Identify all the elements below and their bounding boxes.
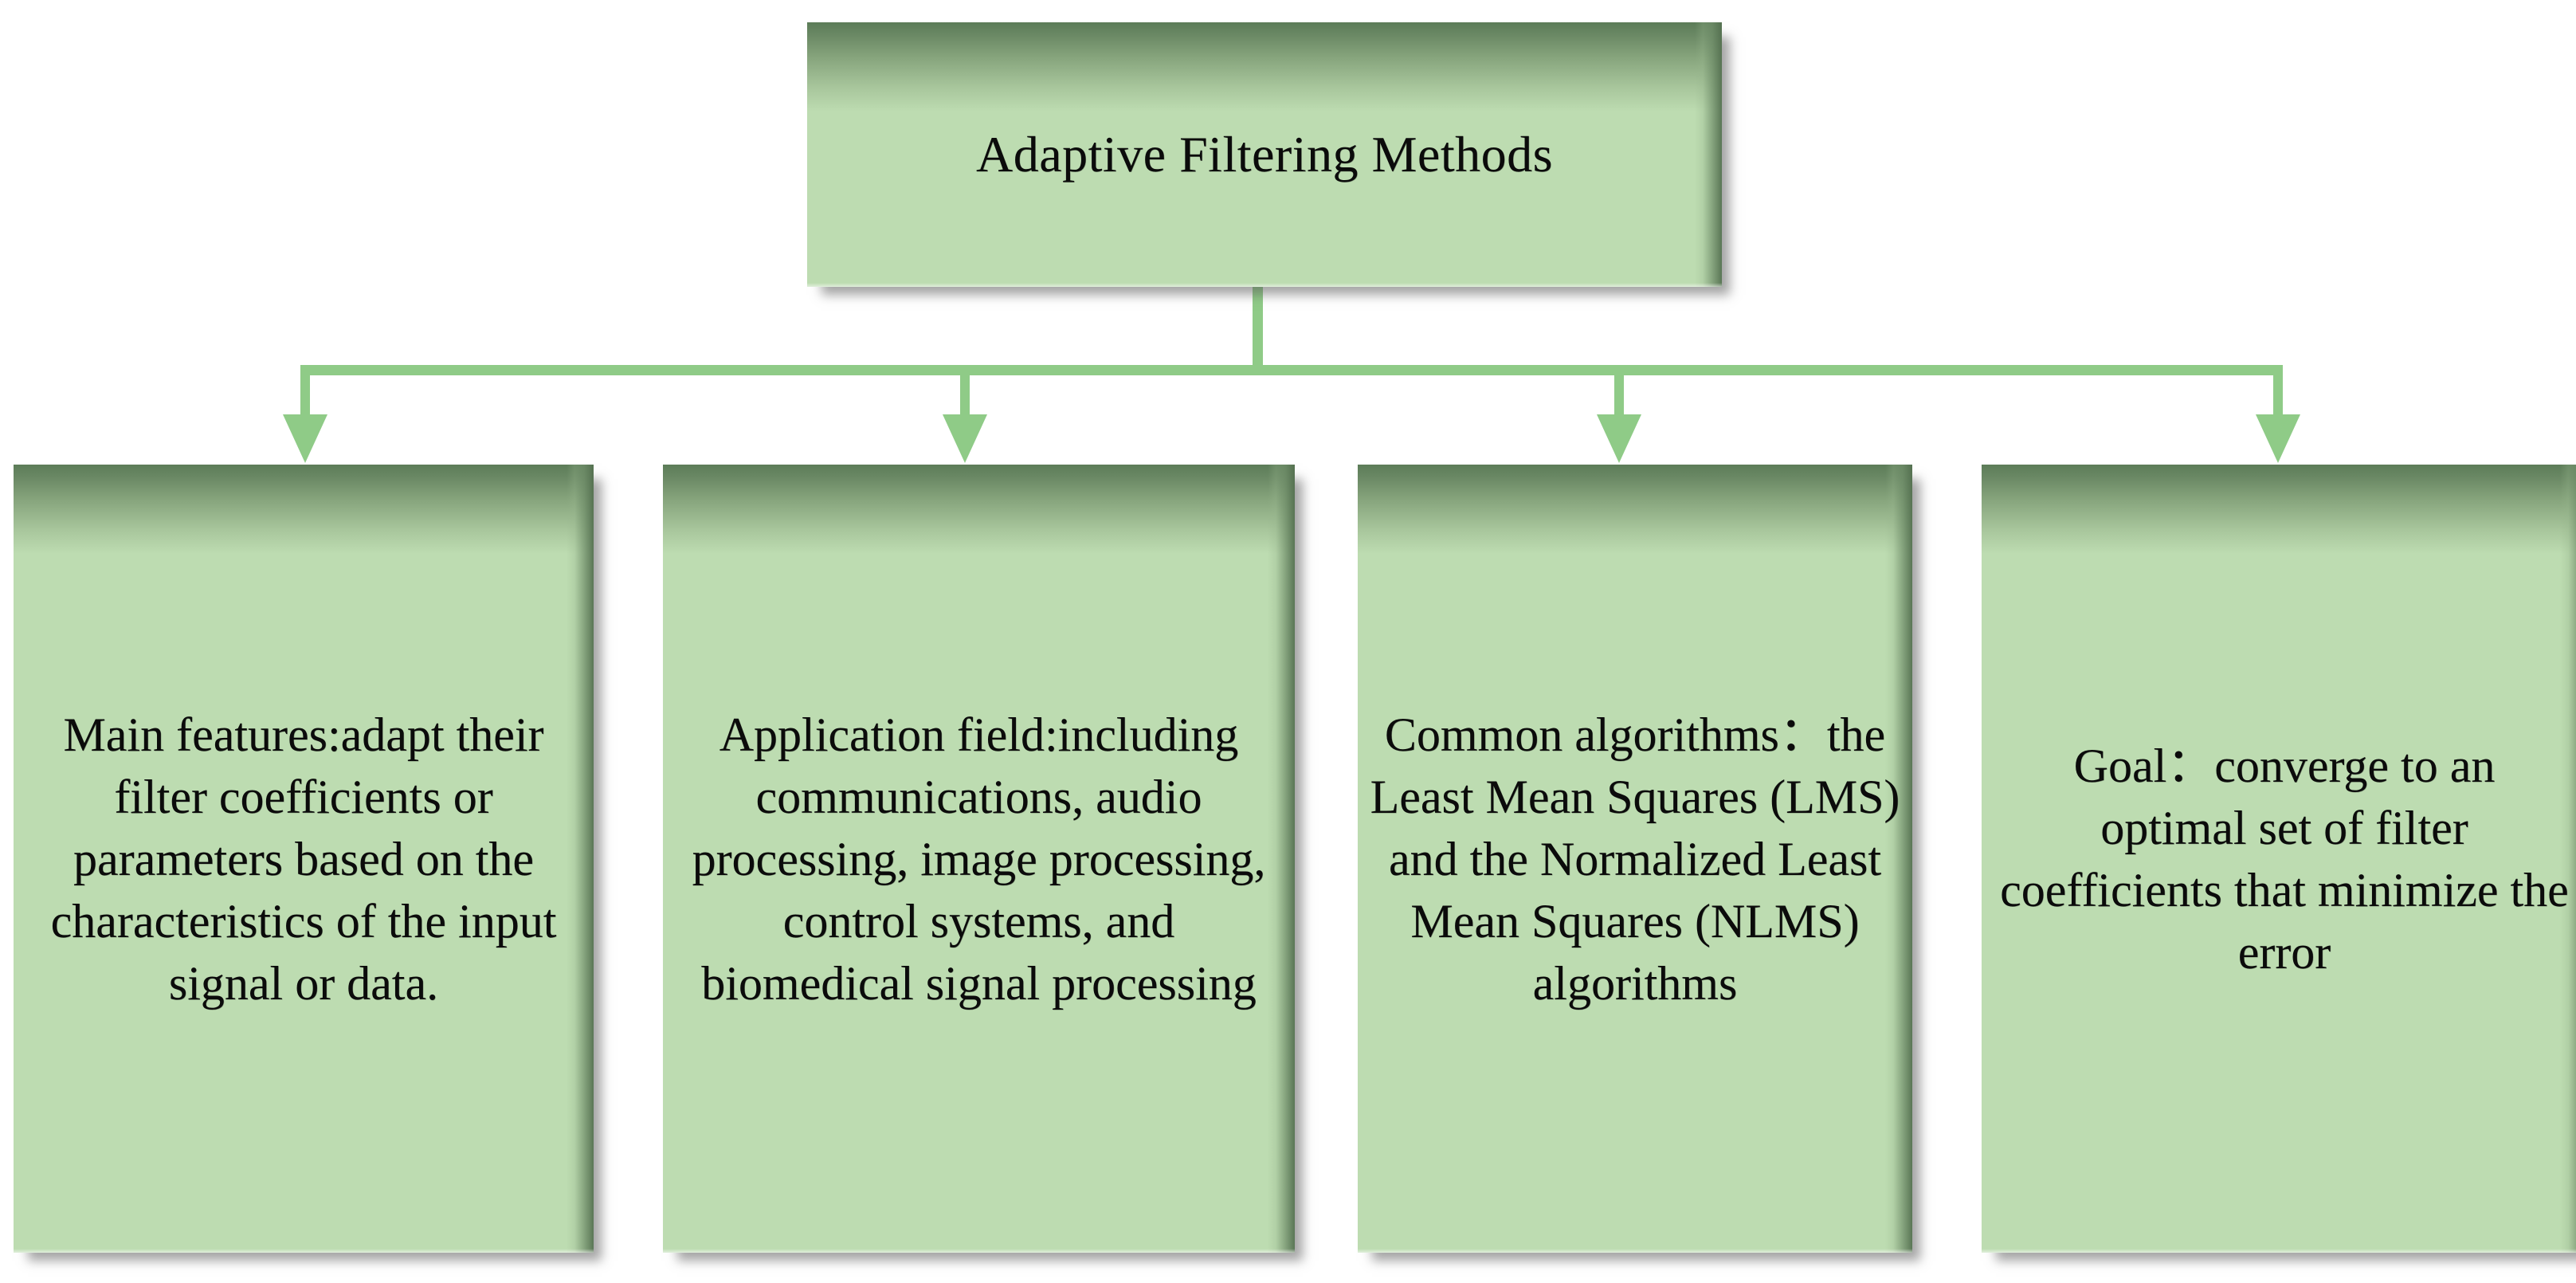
node-goal[interactable]: Goal：converge to an optimal set of filte…	[1982, 465, 2576, 1253]
edge-root-child-1	[943, 365, 987, 463]
arrowhead-icon-0	[283, 414, 327, 463]
node-common-algorithms-label: Common algorithms：the Least Mean Squares…	[1358, 704, 1912, 1014]
node-main-features[interactable]: Main features:adapt their filter coeffic…	[14, 465, 594, 1253]
arrowhead-icon-2	[1597, 414, 1641, 463]
connector-root-stem	[1253, 285, 1263, 373]
flowchart-diagram: Adaptive Filtering Methods Main features…	[0, 0, 2576, 1283]
node-root-label: Adaptive Filtering Methods	[962, 121, 1567, 187]
connector-drop-line-1	[960, 365, 970, 414]
node-common-algorithms[interactable]: Common algorithms：the Least Mean Squares…	[1358, 465, 1912, 1253]
node-application-field[interactable]: Application field:including communicatio…	[663, 465, 1295, 1253]
connector-drop-line-0	[300, 365, 310, 414]
connector-drop-line-2	[1614, 365, 1624, 414]
node-goal-label: Goal：converge to an optimal set of filte…	[1982, 735, 2576, 983]
connector-drop-line-3	[2273, 365, 2283, 414]
edge-root-child-3	[2256, 365, 2300, 463]
node-main-features-label: Main features:adapt their filter coeffic…	[14, 704, 594, 1014]
arrowhead-icon-1	[943, 414, 987, 463]
node-root[interactable]: Adaptive Filtering Methods	[807, 22, 1722, 287]
arrowhead-icon-3	[2256, 414, 2300, 463]
edge-root-child-2	[1597, 365, 1641, 463]
connector-horizontal-bus	[303, 365, 2283, 375]
node-application-field-label: Application field:including communicatio…	[663, 704, 1295, 1014]
edge-root-child-0	[283, 365, 327, 463]
